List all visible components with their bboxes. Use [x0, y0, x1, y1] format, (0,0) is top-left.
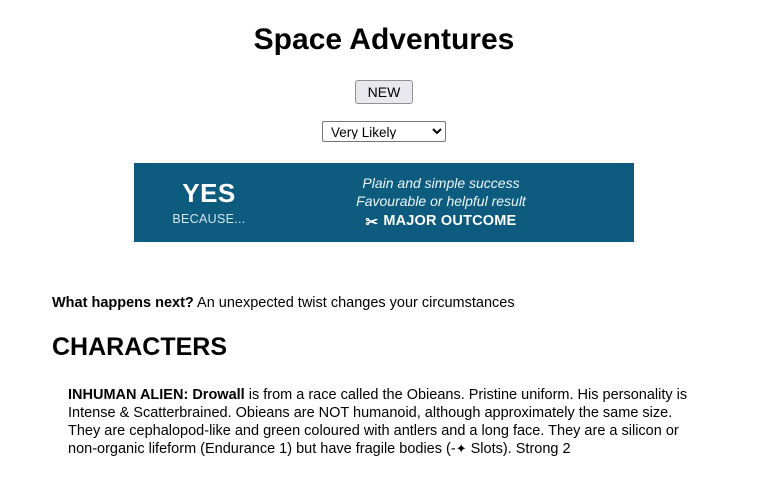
result-detail-line-1: Plain and simple success	[284, 174, 598, 192]
likelihood-select-row: Very Likely	[0, 121, 768, 142]
verdict-word: YES	[134, 180, 284, 207]
character-description-part-2: Slots). Strong 2	[467, 441, 571, 457]
list-item: INHUMAN ALIEN: Drowall is from a race ca…	[52, 362, 708, 458]
page-title: Space Adventures	[0, 0, 768, 58]
what-happens-next-label: What happens next?	[52, 295, 194, 311]
what-happens-next-text: An unexpected twist changes your circums…	[197, 295, 515, 311]
verdict-because-label: BECAUSE...	[134, 212, 284, 227]
result-panel: YES BECAUSE... Plain and simple success …	[134, 163, 634, 242]
new-button-row: NEW	[0, 80, 768, 104]
new-button[interactable]: NEW	[355, 80, 414, 104]
characters-list: INHUMAN ALIEN: Drowall is from a race ca…	[52, 362, 716, 458]
likelihood-select[interactable]: Very Likely	[322, 121, 446, 142]
result-detail-line-2: Favourable or helpful result	[284, 192, 598, 210]
star-icon: ✦	[456, 441, 467, 456]
characters-heading: CHARACTERS	[52, 313, 716, 362]
main-content: What happens next? An unexpected twist c…	[0, 265, 768, 458]
character-name: Drowall	[192, 387, 244, 403]
what-happens-next: What happens next? An unexpected twist c…	[52, 265, 716, 313]
app-page: Space Adventures NEW Very Likely YES BEC…	[0, 0, 768, 480]
result-verdict: YES BECAUSE...	[134, 178, 284, 226]
character-type-label: INHUMAN ALIEN:	[68, 387, 188, 403]
major-outcome-label: MAJOR OUTCOME	[383, 211, 516, 231]
scissors-icon: ✂	[366, 215, 379, 230]
result-detail: Plain and simple success Favourable or h…	[284, 174, 634, 231]
major-outcome-row: ✂ MAJOR OUTCOME	[284, 211, 598, 231]
